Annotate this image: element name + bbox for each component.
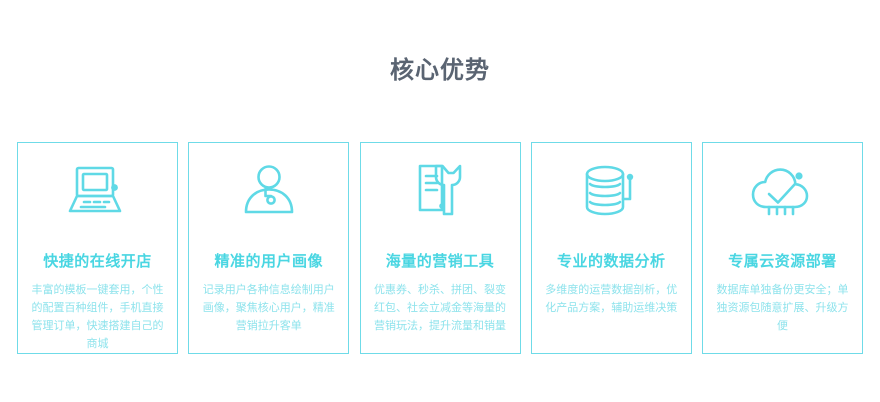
card-description: 丰富的模板一键套用，个性的配置百种组件，手机直接管理订单，快速搭建自己的商城 xyxy=(18,271,177,353)
document-wrench-icon xyxy=(361,143,520,239)
page-title: 核心优势 xyxy=(0,0,880,86)
card-description: 数据库单独备份更安全；单独资源包随意扩展、升级方便 xyxy=(703,271,862,335)
database-icon xyxy=(532,143,691,239)
card-description: 优惠券、秒杀、拼团、裂变红包、社会立减金等海量的营销玩法，提升流量和销量 xyxy=(361,271,520,335)
advantage-card-user-portrait[interactable]: 精准的用户画像 记录用户各种信息绘制用户画像，聚焦核心用户，精准营销拉升客单 xyxy=(188,142,349,354)
card-title: 快捷的在线开店 xyxy=(43,251,152,271)
cloud-check-icon xyxy=(703,143,862,239)
advantage-card-cloud-deploy[interactable]: 专属云资源部署 数据库单独备份更安全；单独资源包随意扩展、升级方便 xyxy=(702,142,863,354)
card-title: 专业的数据分析 xyxy=(557,251,666,271)
core-advantages-section: 核心优势 快捷的在线开店 丰富的模板一键套用，个性的配置百种组件，手机直接管理订… xyxy=(0,0,880,402)
advantage-card-data-analysis[interactable]: 专业的数据分析 多维度的运营数据剖析，优化产品方案，辅助运维决策 xyxy=(531,142,692,354)
card-title: 专属云资源部署 xyxy=(728,251,837,271)
user-portrait-icon xyxy=(189,143,348,239)
card-title: 精准的用户画像 xyxy=(214,251,323,271)
advantage-card-list: 快捷的在线开店 丰富的模板一键套用，个性的配置百种组件，手机直接管理订单，快速搭… xyxy=(17,142,863,354)
advantage-card-marketing-tools[interactable]: 海量的营销工具 优惠券、秒杀、拼团、裂变红包、社会立减金等海量的营销玩法，提升流… xyxy=(360,142,521,354)
advantage-card-online-store[interactable]: 快捷的在线开店 丰富的模板一键套用，个性的配置百种组件，手机直接管理订单，快速搭… xyxy=(17,142,178,354)
card-title: 海量的营销工具 xyxy=(386,251,495,271)
laptop-icon xyxy=(18,143,177,239)
card-description: 记录用户各种信息绘制用户画像，聚焦核心用户，精准营销拉升客单 xyxy=(189,271,348,335)
card-description: 多维度的运营数据剖析，优化产品方案，辅助运维决策 xyxy=(532,271,691,317)
